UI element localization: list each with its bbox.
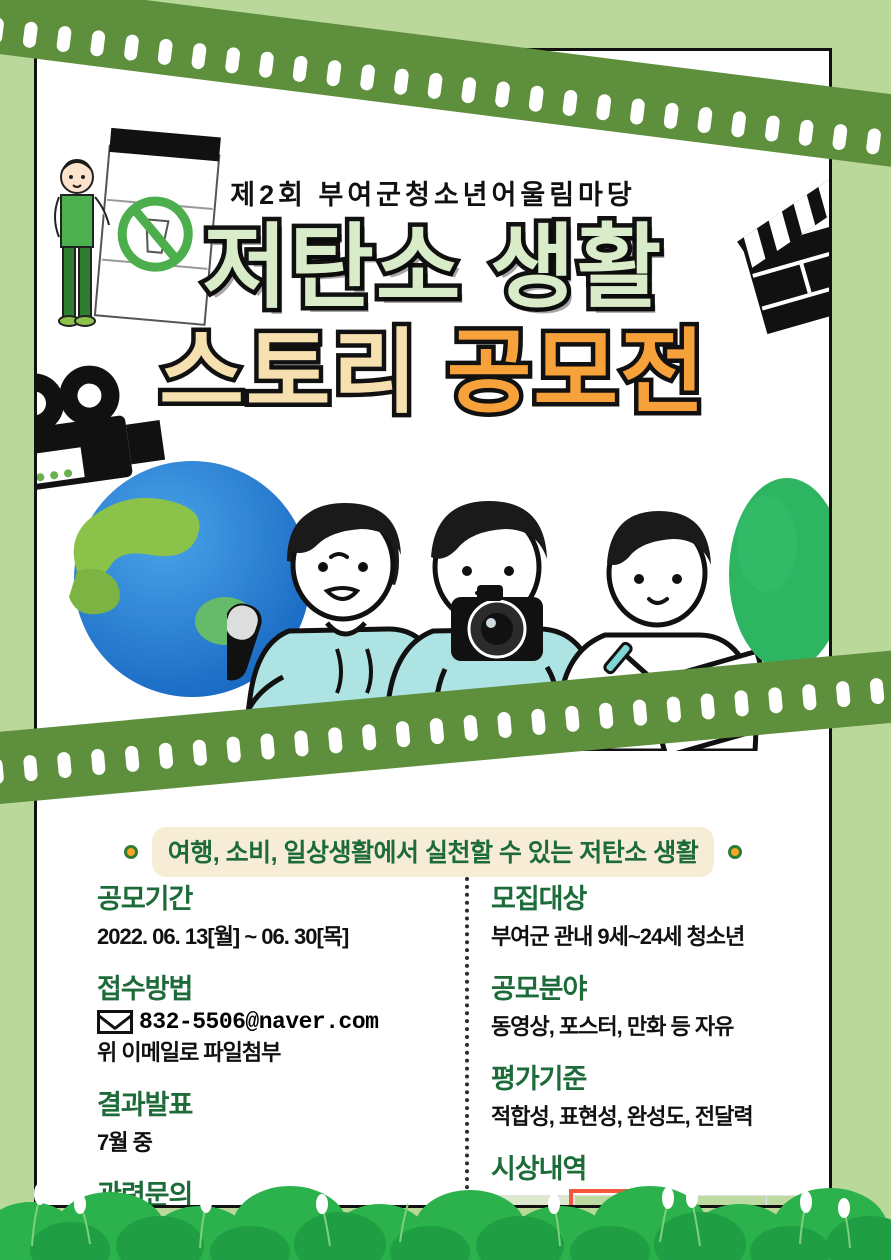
envelope-icon <box>97 1010 133 1034</box>
page-kicker: 제2회 부여군청소년어울림마당 <box>37 173 829 212</box>
criteria-value: 적합성, 표현성, 완성도, 전달력 <box>491 1099 832 1131</box>
film-perforation <box>494 81 510 108</box>
tagline-dot-right-icon <box>728 845 742 859</box>
period-value: 2022. 06. 13[월] ~ 06. 30[목] <box>97 919 449 951</box>
title-line-1: 저탄소 생활 <box>37 219 829 318</box>
film-perforation <box>90 30 106 57</box>
film-perforation <box>258 51 274 78</box>
film-perforation <box>599 702 614 729</box>
film-perforation <box>802 684 817 711</box>
film-perforation <box>22 21 38 48</box>
film-perforation <box>463 715 478 742</box>
film-perforation <box>429 718 444 745</box>
period-heading: 공모기간 <box>97 877 449 916</box>
film-perforation <box>461 77 477 104</box>
film-perforation <box>191 42 207 69</box>
field-heading: 공모분야 <box>491 967 832 1006</box>
tagline-background: 여행, 소비, 일상생활에서 실천할 수 있는 저탄소 생활 <box>152 827 715 877</box>
film-perforation <box>328 727 343 754</box>
apply-note: 위 이메일로 파일첨부 <box>97 1035 449 1067</box>
film-perforation <box>361 724 376 751</box>
title-line-2: 스토리 공모전 <box>37 324 829 423</box>
film-perforation <box>869 678 884 705</box>
film-perforation <box>260 733 275 760</box>
film-perforation <box>91 748 106 775</box>
film-perforation <box>123 34 139 61</box>
film-perforation <box>734 690 749 717</box>
title-line-2-orange: 공모전 <box>447 322 707 424</box>
result-heading: 결과발표 <box>97 1083 449 1122</box>
apply-email: 832-5506@naver.com <box>139 1009 378 1035</box>
film-perforation <box>697 106 713 133</box>
film-perforation <box>0 17 5 44</box>
film-perforation <box>666 696 681 723</box>
film-perforation <box>226 736 241 763</box>
grass-decoration <box>0 1168 891 1260</box>
film-perforation <box>663 102 679 129</box>
page-title: 저탄소 생활 스토리 공모전 <box>37 219 829 424</box>
film-perforation <box>832 123 848 150</box>
film-perforation <box>565 705 580 732</box>
field-value: 동영상, 포스터, 만화 등 자유 <box>491 1009 832 1041</box>
tagline-dot-left-icon <box>124 845 138 859</box>
film-perforation <box>360 64 376 91</box>
poster-card: 제2회 부여군청소년어울림마당 저탄소 생활 스토리 공모전 여행, 소비, 일… <box>34 48 832 1208</box>
target-heading: 모집대상 <box>491 877 832 916</box>
film-perforation <box>764 115 780 142</box>
film-perforation <box>700 693 715 720</box>
film-perforation <box>292 55 308 82</box>
film-perforation <box>57 751 72 778</box>
film-perforation <box>124 745 139 772</box>
film-perforation <box>632 699 647 726</box>
film-perforation <box>294 730 309 757</box>
film-perforation <box>427 72 443 99</box>
film-perforation <box>56 25 72 52</box>
result-value: 7월 중 <box>97 1125 449 1157</box>
apply-email-row: 832-5506@naver.com <box>97 1009 449 1035</box>
film-perforation <box>497 711 512 738</box>
film-perforation <box>836 681 851 708</box>
film-perforation <box>157 38 173 65</box>
film-perforation <box>158 742 173 769</box>
title-line-2-cream: 스토리 <box>159 322 446 424</box>
film-perforation <box>731 111 747 138</box>
target-value: 부여군 관내 9세~24세 청소년 <box>491 919 832 951</box>
right-column: 모집대상 부여군 관내 9세~24세 청소년 공모분야 동영상, 포스터, 만화… <box>491 877 832 1208</box>
criteria-heading: 평가기준 <box>491 1057 832 1096</box>
film-perforation <box>531 708 546 735</box>
column-divider <box>465 877 469 1208</box>
film-perforation <box>865 128 881 155</box>
film-perforation <box>326 59 342 86</box>
film-perforation <box>0 758 4 785</box>
film-perforation <box>225 47 241 74</box>
info-columns: 공모기간 2022. 06. 13[월] ~ 06. 30[목] 접수방법 83… <box>97 877 832 1208</box>
film-perforation <box>596 94 612 121</box>
tagline-text: 여행, 소비, 일상생활에서 실천할 수 있는 저탄소 생활 <box>168 839 699 867</box>
film-perforation <box>768 687 783 714</box>
film-perforation <box>528 85 544 112</box>
film-perforation <box>798 119 814 146</box>
poster-root: 제2회 부여군청소년어울림마당 저탄소 생활 스토리 공모전 여행, 소비, 일… <box>0 0 891 1260</box>
film-perforation <box>562 89 578 116</box>
apply-heading: 접수방법 <box>97 967 449 1006</box>
tagline: 여행, 소비, 일상생활에서 실천할 수 있는 저탄소 생활 <box>37 827 829 877</box>
film-perforation <box>629 98 645 125</box>
film-perforation <box>192 739 207 766</box>
film-perforation <box>23 755 38 782</box>
left-column: 공모기간 2022. 06. 13[월] ~ 06. 30[목] 접수방법 83… <box>97 877 449 1208</box>
film-perforation <box>393 68 409 95</box>
film-perforation <box>395 721 410 748</box>
